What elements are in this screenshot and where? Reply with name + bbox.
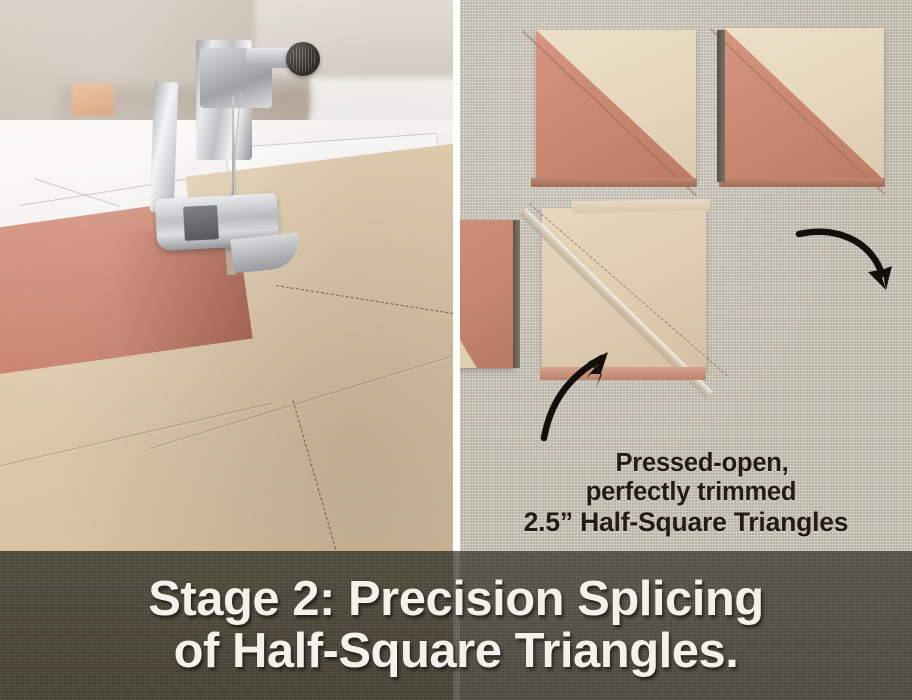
- title-banner: Stage 2: Precision Splicing of Half-Squa…: [0, 551, 912, 700]
- hst-block-top-left: [536, 30, 696, 180]
- salmon-triangle: [536, 30, 696, 180]
- hst-block-partial: [460, 220, 514, 368]
- right-photo-finished-blocks: OLFA 45mm / ROTARY CUTTER Pressed-open, …: [460, 0, 912, 551]
- presser-foot-slot: [183, 205, 219, 241]
- tutorial-image: OLFA 45mm / ROTARY CUTTER Pressed-open, …: [0, 0, 912, 700]
- hst-block-back: [542, 208, 706, 370]
- stitch-line: [529, 203, 728, 376]
- caption-line-1: Pressed-open,: [460, 449, 912, 478]
- panel-divider: [453, 0, 460, 551]
- banner-title: Stage 2: Precision Splicing of Half-Squa…: [0, 551, 912, 700]
- block-top-flap: [571, 199, 709, 213]
- right-photo-caption: Pressed-open, perfectly trimmed 2.5” Hal…: [460, 449, 912, 537]
- block-bottom-flap: [540, 367, 706, 380]
- banner-title-line-1: Stage 2: Precision Splicing: [148, 575, 764, 625]
- block-underlap: [719, 178, 885, 187]
- banner-title-line-2: of Half-Square Triangles.: [174, 627, 739, 677]
- left-photo-sewing-machine: [0, 0, 453, 551]
- block-side-flap: [513, 220, 520, 368]
- salmon-triangle: [724, 28, 884, 180]
- hst-block-top-right: [724, 28, 884, 180]
- machine-orange-tab-icon: [72, 84, 114, 116]
- cream-corner: [460, 220, 514, 368]
- presser-foot-bar: [150, 82, 179, 213]
- caption-line-2: perfectly trimmed: [460, 478, 912, 507]
- caption-line-3: 2.5” Half-Square Triangles: [460, 507, 912, 537]
- presser-screw-knob: [286, 42, 320, 76]
- block-side-flap: [717, 30, 725, 182]
- block-underlap: [531, 178, 697, 187]
